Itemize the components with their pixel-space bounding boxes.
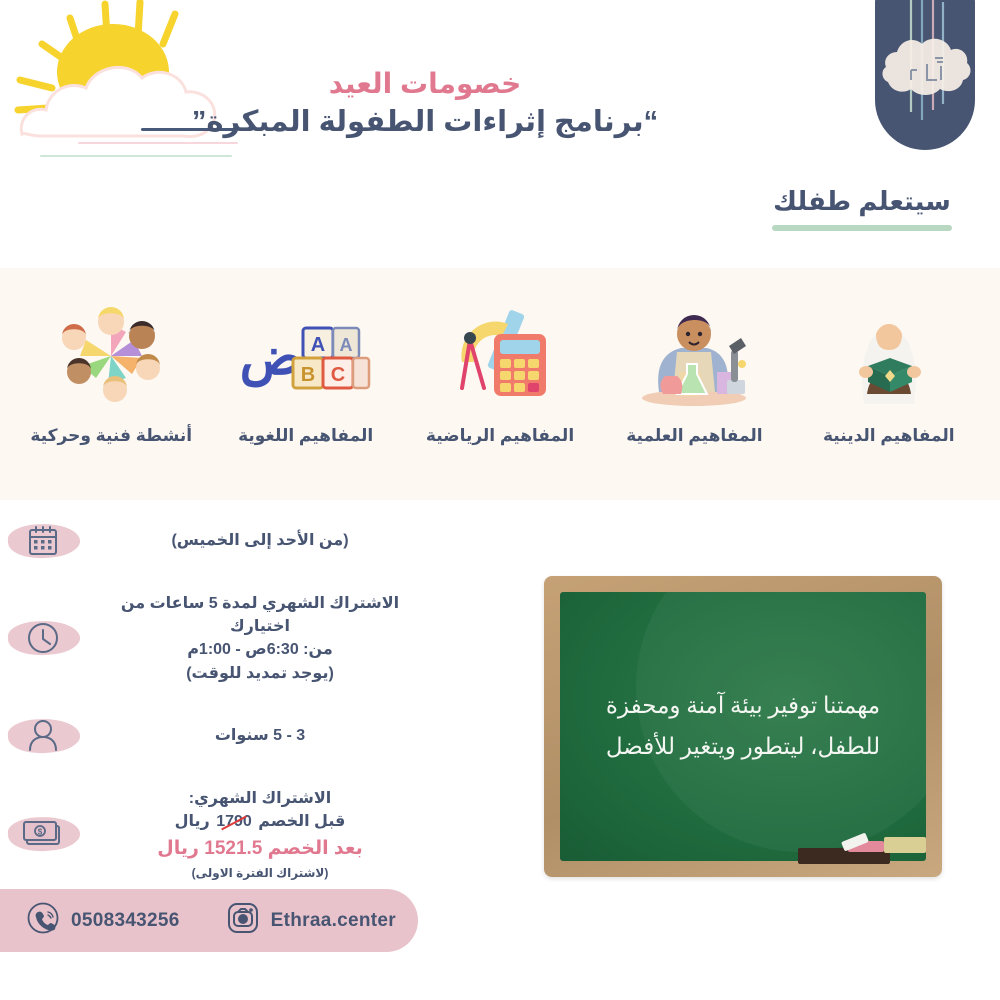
phone-number: 0508343256 [71, 910, 180, 932]
header-block: خصومات العيد “برنامج إثراءات الطفولة الم… [0, 66, 850, 145]
price-note: (لاشتراك الفترة الاولى) [100, 865, 420, 882]
subject-item-art: أنشطة فنية وحركية [16, 306, 206, 446]
price-after-row: بعد الخصم 1521.5 ريال [100, 835, 420, 863]
subject-label: المفاهيم الدينية [794, 426, 984, 446]
detail-row-price: $ الاشتراك الشهري: قبل الخصم 1790 ريال ب… [0, 787, 420, 882]
detail-row-days: (من الأحد إلى الخميس) [0, 512, 420, 570]
detail-price-text: الاشتراك الشهري: قبل الخصم 1790 ريال بعد… [86, 787, 420, 882]
detail-hours-text: الاشتراك الشهري لمدة 5 ساعات من اختيارك … [86, 592, 420, 685]
mission-text: مهمتنا توفير بيئة آمنة ومحفزة للطفل، ليت… [560, 686, 926, 767]
contact-bar: 0508343256 Ethraa.center [0, 889, 418, 952]
detail-row-hours: الاشتراك الشهري لمدة 5 ساعات من اختيارك … [0, 592, 420, 685]
subheading-block: سيتعلم طفلك [772, 186, 952, 231]
chalkboard-surface: مهمتنا توفير بيئة آمنة ومحفزة للطفل، ليت… [560, 592, 926, 861]
subject-label: المفاهيم الرياضية [405, 426, 595, 446]
instagram-icon [226, 901, 260, 940]
svg-text:A: A [339, 335, 352, 355]
chalkboard: مهمتنا توفير بيئة آمنة ومحفزة للطفل، ليت… [544, 576, 942, 877]
page-title-program: “برنامج إثراءات الطفولة المبكرة” [0, 101, 850, 145]
quran-reading-icon [794, 306, 984, 410]
price-before-label: قبل الخصم [258, 813, 345, 830]
price-title: الاشتراك الشهري: [100, 787, 420, 810]
science-lab-icon [599, 306, 789, 410]
price-after-amount: 1521.5 [204, 838, 262, 859]
person-icon [0, 707, 86, 765]
details-list: (من الأحد إلى الخميس) الاشتراك الشهري لم… [0, 512, 420, 904]
instagram-handle: Ethraa.center [271, 910, 396, 932]
subheading-underline [772, 225, 952, 231]
clock-icon [0, 609, 86, 667]
decorative-line-green [40, 155, 232, 157]
page-title-discount: خصومات العيد [0, 66, 850, 101]
subheading-text: سيتعلم طفلك [772, 186, 952, 221]
detail-age-text: 3 - 5 سنوات [86, 724, 420, 747]
subject-label: أنشطة فنية وحركية [16, 426, 206, 446]
detail-row-age: 3 - 5 سنوات [0, 707, 420, 765]
hours-line-3: (يوجد تمديد للوقت) [100, 662, 420, 685]
detail-days-text: (من الأحد إلى الخميس) [86, 529, 420, 552]
svg-text:B: B [300, 364, 314, 386]
calculator-ruler-icon [405, 306, 595, 410]
subject-label: المفاهيم اللغوية [211, 426, 401, 446]
svg-text:A: A [310, 334, 324, 356]
logo-cloud-icon [875, 0, 975, 150]
subject-item-science: المفاهيم العلمية [599, 306, 789, 446]
calendar-icon [0, 512, 86, 570]
hours-line-2: من: 6:30ص - 1:00م [100, 638, 420, 661]
subject-item-religion: المفاهيم الدينية [794, 306, 984, 446]
svg-text:C: C [330, 364, 344, 386]
contact-instagram[interactable]: Ethraa.center [226, 901, 396, 940]
price-before-row: قبل الخصم 1790 ريال [100, 810, 420, 833]
svg-text:$: $ [38, 828, 43, 837]
chalk-eraser-icon [884, 837, 926, 853]
contact-phone[interactable]: 0508343256 [26, 901, 180, 940]
price-after-label: بعد الخصم [268, 838, 363, 859]
poster-root: خصومات العيد “برنامج إثراءات الطفولة الم… [0, 0, 1000, 1000]
abc-blocks-icon: ض A A B C [211, 306, 401, 410]
price-before-currency: ريال [175, 813, 210, 830]
subject-item-math: المفاهيم الرياضية [405, 306, 595, 446]
subject-item-language: ض A A B C المفاهيم اللغوية [211, 306, 401, 446]
phone-icon [26, 901, 60, 940]
money-icon: $ [0, 805, 86, 863]
hours-line-1: الاشتراك الشهري لمدة 5 ساعات من اختيارك [100, 592, 420, 638]
price-after-currency: ريال [157, 838, 199, 859]
subjects-band: أنشطة فنية وحركية ض A A B C [0, 268, 1000, 500]
children-circle-icon [16, 306, 206, 410]
ethraa-logo [875, 0, 975, 150]
price-before-amount: 1790 [214, 810, 254, 833]
subject-label: المفاهيم العلمية [599, 426, 789, 446]
